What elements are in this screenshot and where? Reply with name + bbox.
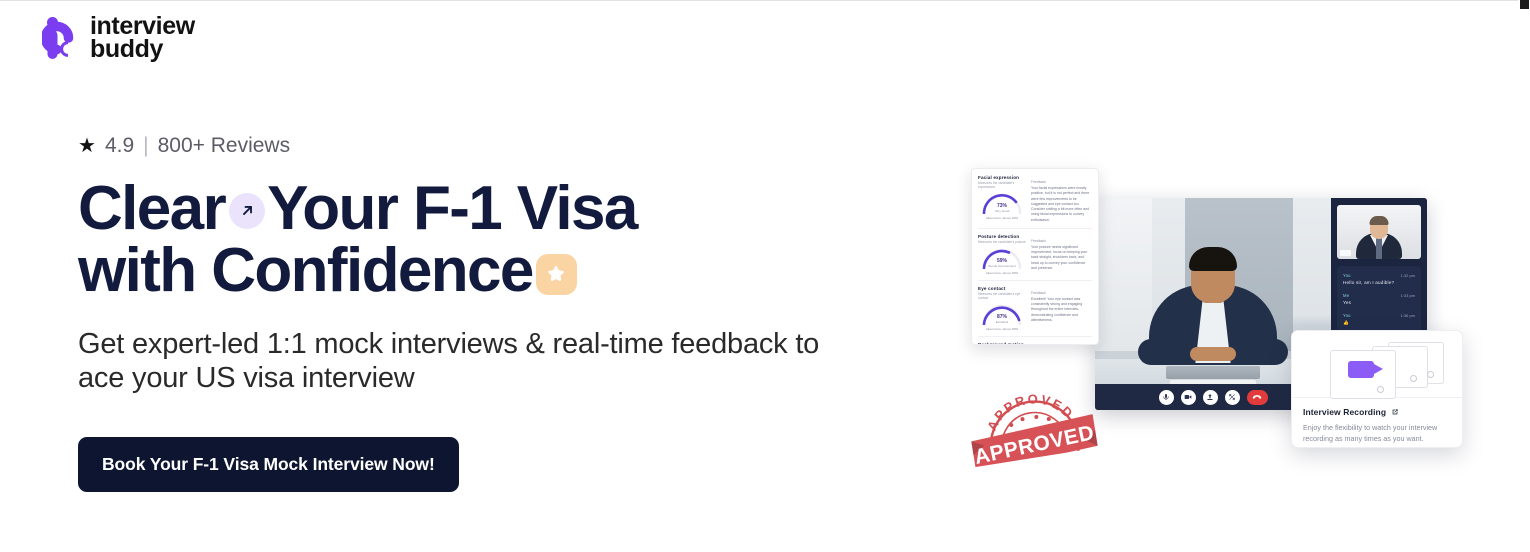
gauge-label: Needs improvement bbox=[980, 264, 1024, 268]
room-wall-panel-left bbox=[1095, 198, 1152, 351]
report-section-subtitle: Measures the candidate's expressions bbox=[978, 181, 1026, 189]
headline-line-1: Clear Your F-1 Visa bbox=[78, 178, 838, 240]
candidate-avatar bbox=[1149, 245, 1277, 363]
chat-timestamp: 1:33 pm bbox=[1401, 293, 1415, 298]
recording-card-title: Interview Recording bbox=[1303, 407, 1386, 417]
scrollbar-thumb[interactable] bbox=[1520, 0, 1529, 9]
headline-text-line-2: with Confidence bbox=[78, 236, 533, 305]
chat-text: Yes bbox=[1343, 300, 1415, 305]
chat-timestamp: 1:32 pm bbox=[1401, 273, 1415, 278]
interview-recording-card[interactable]: Interview Recording Enjoy the flexibilit… bbox=[1291, 330, 1463, 448]
chat-message: You 1:36 pm 👍 bbox=[1343, 313, 1415, 326]
rating-score: 4.9 bbox=[105, 134, 134, 158]
page-root: interview buddy ★ 4.9 | 800+ Reviews Cle… bbox=[0, 0, 1530, 552]
feedback-label: Feedback bbox=[1031, 291, 1092, 295]
report-section: Facial expression Measures the candidate… bbox=[978, 175, 1092, 223]
chat-message: Me 1:33 pm Yes bbox=[1343, 293, 1415, 305]
logo-line-2: buddy bbox=[90, 38, 195, 61]
report-section-subtitle: Measures the candidate's eye contact bbox=[978, 292, 1026, 300]
hero-illustration: You 1:32 pm Hello sir, am I audible? Me … bbox=[965, 160, 1475, 460]
report-section: Eye contact Measures the candidate's eye… bbox=[978, 286, 1092, 331]
phone-hangup-icon[interactable] bbox=[1247, 390, 1268, 405]
chat-message: You 1:32 pm Hello sir, am I audible? bbox=[1343, 273, 1415, 285]
top-divider bbox=[0, 0, 1518, 1]
expand-icon[interactable] bbox=[1225, 390, 1240, 405]
divider bbox=[978, 228, 1092, 229]
video-camera-icon[interactable] bbox=[1181, 390, 1196, 405]
chat-author: Me bbox=[1343, 293, 1349, 298]
chat-author: You bbox=[1343, 273, 1351, 278]
chat-text: Hello sir, am I audible? bbox=[1343, 280, 1415, 285]
report-section-title: Posture detection bbox=[978, 234, 1026, 239]
page-title: Clear Your F-1 Visa with Confidence bbox=[78, 178, 838, 302]
feedback-text: Your facial expressions were mostly posi… bbox=[1031, 186, 1092, 223]
feedback-report-card[interactable]: Facial expression Measures the candidate… bbox=[971, 168, 1099, 345]
feedback-label: Feedback bbox=[1031, 239, 1092, 243]
interviewbuddy-b-mark-icon bbox=[42, 16, 82, 60]
interviewer-thumbnail[interactable] bbox=[1337, 205, 1421, 259]
report-section-title: Eye contact bbox=[978, 286, 1026, 291]
headline-rest-line-1: Your F-1 Visa bbox=[267, 174, 637, 243]
microphone-icon[interactable] bbox=[1159, 390, 1174, 405]
report-section-subtitle: Measures the candidate's posture bbox=[978, 240, 1026, 244]
report-section: Posture detection Measures the candidate… bbox=[978, 234, 1092, 275]
report-section: Background motion Measures the motion in… bbox=[978, 342, 1092, 345]
logo-wordmark: interview buddy bbox=[90, 15, 195, 62]
gauge-footnote: Ideal score: above 80% bbox=[978, 271, 1026, 275]
video-camera-icon bbox=[1292, 331, 1462, 397]
chat-timestamp: 1:36 pm bbox=[1401, 313, 1415, 318]
gauge-footnote: Ideal score: above 80% bbox=[978, 327, 1026, 331]
gauge-label: Very Good bbox=[980, 209, 1024, 213]
divider bbox=[978, 336, 1092, 337]
score-gauge: 59% Needs improvement bbox=[980, 247, 1024, 269]
score-gauge: 73% Very Good bbox=[980, 192, 1024, 214]
hero-subheadline: Get expert-led 1:1 mock interviews & rea… bbox=[78, 328, 868, 395]
score-gauge: 87% Excellent bbox=[980, 303, 1024, 325]
chat-author: You bbox=[1343, 313, 1351, 318]
book-mock-interview-button[interactable]: Book Your F-1 Visa Mock Interview Now! bbox=[78, 437, 459, 492]
external-link-icon[interactable] bbox=[1391, 408, 1399, 416]
feedback-label: Feedback bbox=[1031, 180, 1092, 184]
feedback-text: Excellent! Your eye contact was consiste… bbox=[1031, 297, 1092, 323]
rating-review-count: 800+ Reviews bbox=[158, 134, 291, 158]
headline-line-2: with Confidence bbox=[78, 240, 838, 302]
divider bbox=[978, 280, 1092, 281]
site-logo[interactable]: interview buddy bbox=[42, 15, 195, 62]
report-section-title: Background motion bbox=[978, 342, 1026, 345]
gauge-footnote: Ideal score: above 80% bbox=[978, 216, 1026, 220]
report-section-title: Facial expression bbox=[978, 175, 1026, 180]
rating-row: ★ 4.9 | 800+ Reviews bbox=[78, 130, 958, 162]
recording-card-description: Enjoy the flexibility to watch your inte… bbox=[1303, 422, 1451, 444]
chat-text: 👍 bbox=[1343, 320, 1415, 326]
rating-separator: | bbox=[143, 134, 148, 158]
hero-text-column: ★ 4.9 | 800+ Reviews Clear Your F-1 Visa… bbox=[78, 130, 958, 492]
participant-name-tag bbox=[1340, 250, 1351, 256]
feedback-text: Your posture needs significant improveme… bbox=[1031, 245, 1092, 271]
gauge-label: Excellent bbox=[980, 320, 1024, 324]
approved-stamp: APPROVED APPROVED APPROVED bbox=[958, 351, 1100, 468]
upload-icon[interactable] bbox=[1203, 390, 1218, 405]
recording-card-title-row: Interview Recording bbox=[1303, 407, 1451, 417]
recording-card-body: Interview Recording Enjoy the flexibilit… bbox=[1292, 397, 1462, 444]
star-icon: ★ bbox=[78, 136, 96, 156]
headline-word-clear: Clear bbox=[78, 174, 225, 243]
arrow-up-right-icon bbox=[229, 193, 265, 229]
star-icon bbox=[536, 254, 577, 295]
scrollbar-track[interactable] bbox=[1518, 0, 1530, 552]
